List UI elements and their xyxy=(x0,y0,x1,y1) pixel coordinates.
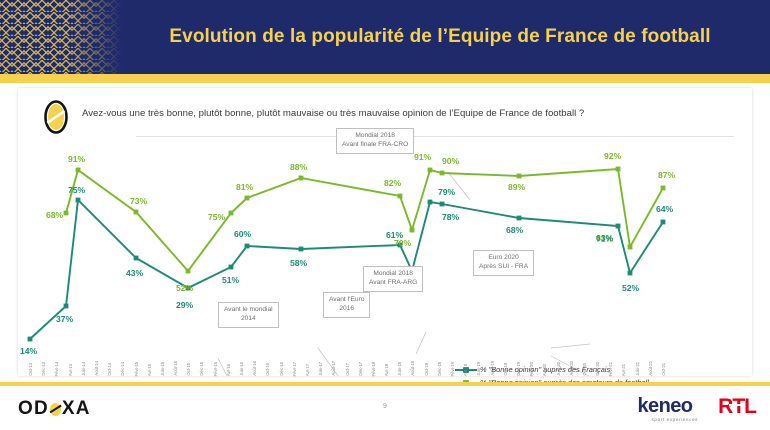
x-axis-tick-label: Août-18 xyxy=(410,361,415,376)
keneo-logo-name: keneo xyxy=(638,396,698,416)
line-chart-svg: 68% 91% 73% 52% 75% 81% 88% 82% 70% 91% … xyxy=(18,136,752,376)
svg-text:43%: 43% xyxy=(126,268,144,278)
x-axis-tick-label: Déc-19 xyxy=(516,362,521,376)
x-axis-tick-label: Déc-15 xyxy=(199,362,204,376)
x-axis-tick-label: Avr-20 xyxy=(542,364,547,376)
x-axis-tick-label: Juin-19 xyxy=(476,362,481,376)
data-labels-francais: 14% 37% 75% 43% 29% 51% 60% 58% 61% 50% … xyxy=(20,185,674,356)
header-accent-bar xyxy=(0,74,770,83)
x-axis-tick-label: Juin-16 xyxy=(239,362,244,376)
svg-text:88%: 88% xyxy=(290,162,308,172)
x-axis-tick-label: Févr-21 xyxy=(608,362,613,376)
x-axis-tick-label: Juin-15 xyxy=(160,362,165,376)
slide-footer: OD XA 9 keneo sport experiences RTL xyxy=(0,386,770,430)
x-axis-tick-label: Déc-18 xyxy=(437,362,442,376)
x-axis-tick-label: Juin-17 xyxy=(318,362,323,376)
x-axis-tick-label: Févr-19 xyxy=(450,362,455,376)
svg-text:79%: 79% xyxy=(438,187,456,197)
x-axis-tick-label: Oct-17 xyxy=(345,363,350,376)
keneo-logo: keneo sport experiences xyxy=(638,396,698,422)
series-markers-amateurs xyxy=(64,167,666,274)
svg-text:52%: 52% xyxy=(622,283,640,293)
x-axis-tick-label: Déc-14 xyxy=(120,362,125,376)
svg-text:91%: 91% xyxy=(414,152,432,162)
svg-text:82%: 82% xyxy=(384,178,402,188)
x-axis-tick-label: Août-20 xyxy=(569,361,574,376)
svg-text:92%: 92% xyxy=(604,151,622,161)
page-title: Evolution de la popularité de l’Equipe d… xyxy=(140,0,740,74)
x-axis-tick-label: Août-15 xyxy=(173,361,178,376)
svg-text:81%: 81% xyxy=(236,182,254,192)
x-axis-tick-label: Avr-18 xyxy=(384,364,389,376)
x-axis-tick-label: Août-21 xyxy=(648,361,653,376)
x-axis-tick-label: Oct-19 xyxy=(503,363,508,376)
x-axis-tick-label: Déc-20 xyxy=(595,362,600,376)
x-axis-labels: Oct-13Déc-13Févr-14Avr-14Juin-14Août-14O… xyxy=(18,350,752,376)
x-axis-tick-label: Août-19 xyxy=(490,361,495,376)
svg-text:75%: 75% xyxy=(208,212,226,222)
svg-text:87%: 87% xyxy=(658,170,676,180)
callout-mondial-2018-fra-cro: Mondial 2018 Avant finale FRA-CRO xyxy=(336,128,414,154)
x-axis-tick-label: Oct-21 xyxy=(661,363,666,376)
x-axis-tick-label: Févr-15 xyxy=(134,362,139,376)
x-axis-tick-label: Févr-17 xyxy=(292,362,297,376)
rtl-logo: RTL xyxy=(718,395,756,419)
odoxa-mark-icon xyxy=(44,100,68,134)
callout-mondial-2018-fra-arg: Mondial 2018 Avant FRA-ARG xyxy=(363,266,423,292)
svg-text:90%: 90% xyxy=(442,156,460,166)
svg-text:61%: 61% xyxy=(386,230,404,240)
svg-text:37%: 37% xyxy=(56,314,74,324)
series-line-amateurs xyxy=(66,169,663,271)
x-axis-tick-label: Févr-18 xyxy=(371,362,376,376)
svg-text:58%: 58% xyxy=(290,258,308,268)
svg-text:78%: 78% xyxy=(442,212,460,222)
x-axis-tick-label: Août-17 xyxy=(331,361,336,376)
x-axis-tick-label: Avr-15 xyxy=(147,364,152,376)
x-axis-tick-label: Juin-14 xyxy=(81,362,86,376)
x-axis-tick-label: Oct-13 xyxy=(28,363,33,376)
x-axis-tick-label: Déc-13 xyxy=(41,362,46,376)
x-axis-tick-label: Févr-20 xyxy=(529,362,534,376)
series-line-francais xyxy=(30,200,663,339)
survey-question: Avez-vous une très bonne, plutôt bonne, … xyxy=(82,108,736,121)
svg-text:68%: 68% xyxy=(46,210,64,220)
x-axis-tick-label: Août-14 xyxy=(94,361,99,376)
x-axis-tick-label: Juin-20 xyxy=(556,362,561,376)
svg-text:91%: 91% xyxy=(68,154,86,164)
chart-area: 68% 91% 73% 52% 75% 81% 88% 82% 70% 91% … xyxy=(18,136,752,376)
svg-text:64%: 64% xyxy=(656,204,674,214)
callout-avant-mondial-2014: Avant le mondial 2014 xyxy=(218,302,279,328)
slide-header: Evolution de la popularité de l’Equipe d… xyxy=(0,0,770,74)
svg-text:68%: 68% xyxy=(506,225,524,235)
x-axis-tick-label: Févr-16 xyxy=(213,362,218,376)
x-axis-tick-label: Juin-18 xyxy=(397,362,402,376)
chevron-pattern-decoration xyxy=(0,0,122,74)
x-axis-tick-label: Févr-14 xyxy=(54,362,59,376)
x-axis-tick-label: Avr-17 xyxy=(305,364,310,376)
content-card: Avez-vous une très bonne, plutôt bonne, … xyxy=(18,88,752,376)
x-axis-tick-label: Juin-21 xyxy=(635,362,640,376)
x-axis-tick-label: Avr-21 xyxy=(621,364,626,376)
x-axis-tick-label: Oct-16 xyxy=(265,363,270,376)
svg-text:73%: 73% xyxy=(130,196,148,206)
callout-euro-2020-sui-fra: Euro 2020 Après SUI - FRA xyxy=(473,250,534,276)
svg-text:75%: 75% xyxy=(68,185,86,195)
callout-avant-euro-2016: Avant l’Euro 2016 xyxy=(323,292,370,318)
rtl-logo-name: RTL xyxy=(718,395,756,418)
x-axis-tick-label: Oct-15 xyxy=(186,363,191,376)
svg-text:51%: 51% xyxy=(222,275,240,285)
x-axis-tick-label: Déc-16 xyxy=(279,362,284,376)
svg-text:29%: 29% xyxy=(176,300,194,310)
series-markers-francais xyxy=(28,198,666,342)
x-axis-tick-label: Avr-16 xyxy=(226,364,231,376)
x-axis-tick-label: Avr-19 xyxy=(463,364,468,376)
x-axis-tick-label: Oct-20 xyxy=(582,363,587,376)
x-axis-tick-label: Déc-17 xyxy=(358,362,363,376)
svg-text:52%: 52% xyxy=(176,283,194,293)
svg-text:89%: 89% xyxy=(508,182,526,192)
x-axis-tick-label: Oct-18 xyxy=(424,363,429,376)
svg-text:60%: 60% xyxy=(234,229,252,239)
x-axis-tick-label: Oct-14 xyxy=(107,363,112,376)
svg-text:63%: 63% xyxy=(596,233,614,243)
keneo-logo-tagline: sport experiences xyxy=(652,417,698,422)
x-axis-tick-label: Avr-14 xyxy=(68,364,73,376)
x-axis-tick-label: Août-16 xyxy=(252,361,257,376)
